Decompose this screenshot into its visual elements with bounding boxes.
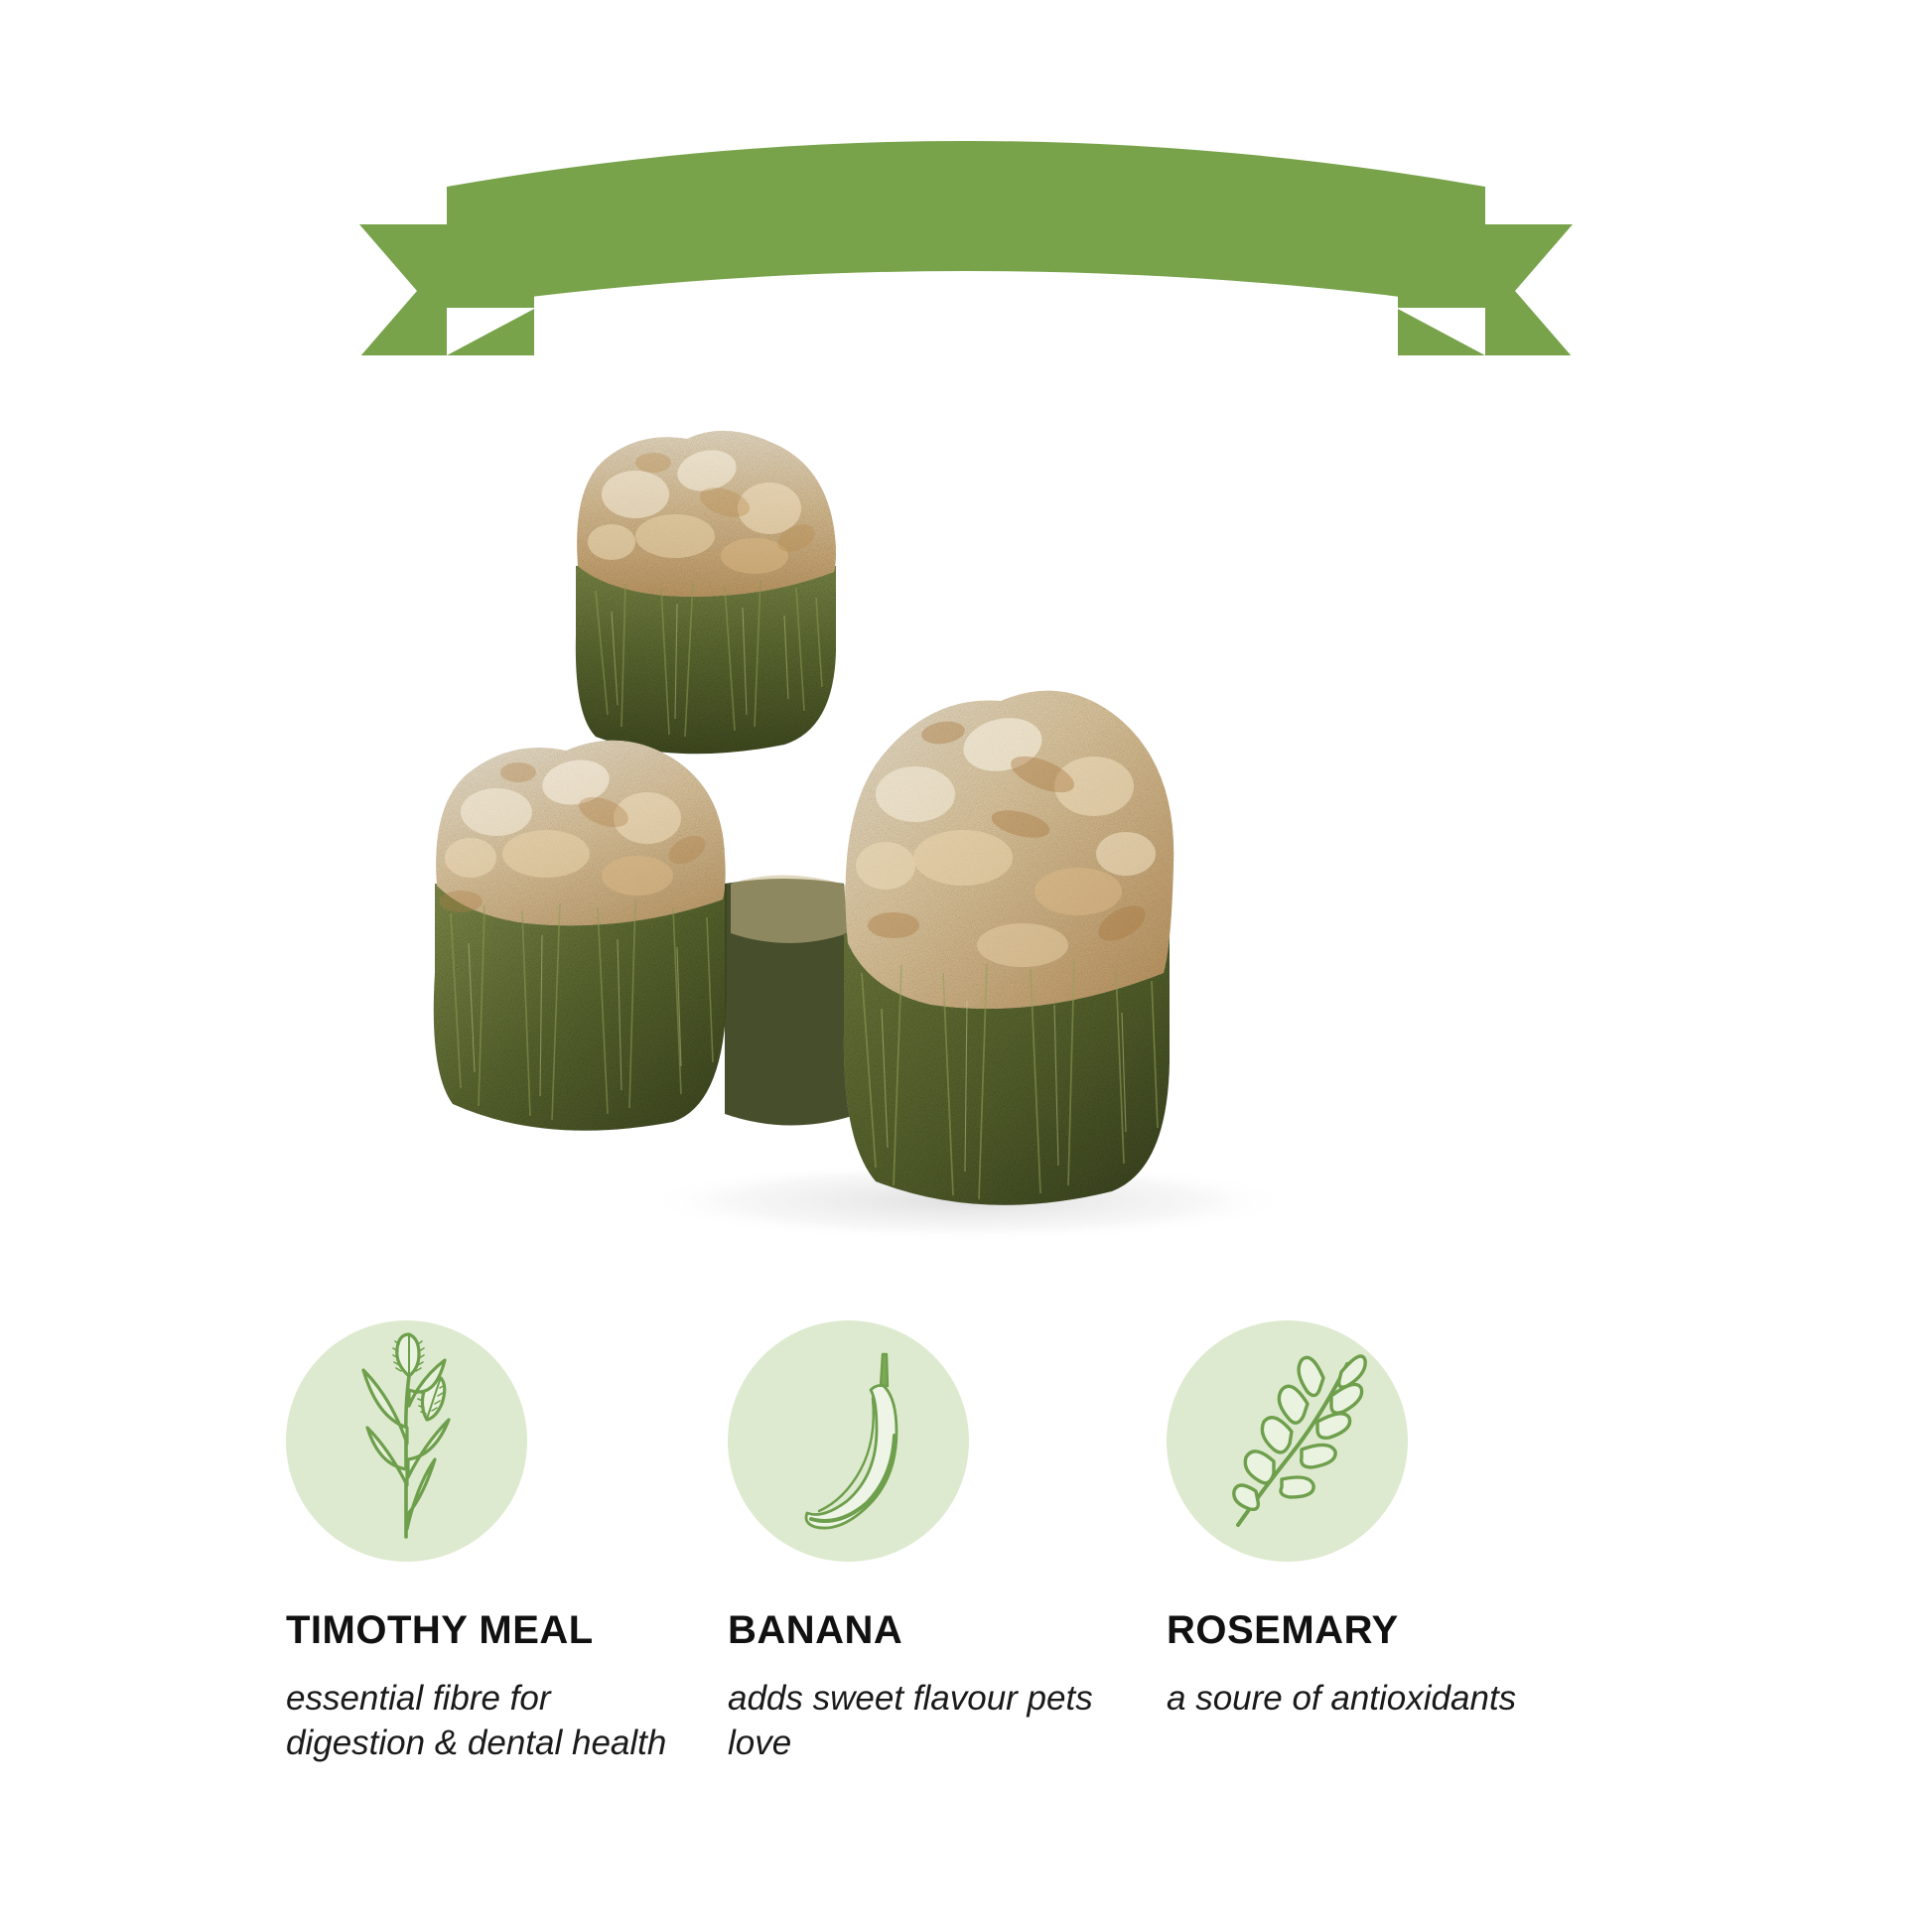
timothy-grass-icon-background: [286, 1320, 527, 1562]
treat-left: [434, 741, 727, 1131]
ingredient-banana: BANANA adds sweet flavour pets love: [728, 1320, 1224, 1766]
ingredient-title: TIMOTHY MEAL: [286, 1609, 782, 1651]
banana-icon: [728, 1320, 969, 1562]
infographic-canvas: HEALTHIER TREATS: [0, 0, 1932, 1932]
ingredient-description: a soure of antioxidants: [1167, 1677, 1593, 1722]
ingredient-rosemary: ROSEMARY a soure of antioxidants: [1167, 1320, 1663, 1722]
timothy-grass-icon: [286, 1320, 527, 1562]
banana-icon-background: [728, 1320, 969, 1562]
banner-body: [447, 141, 1485, 308]
ingredient-description: adds sweet flavour pets love: [728, 1677, 1125, 1766]
rosemary-sprig-icon: [1167, 1320, 1408, 1562]
treat-back: [725, 875, 864, 1125]
ingredient-title: BANANA: [728, 1609, 1224, 1651]
ingredient-title: ROSEMARY: [1167, 1609, 1663, 1651]
treat-right: [844, 691, 1173, 1205]
ingredient-description: essential fibre for digestion & dental h…: [286, 1677, 683, 1766]
healthier-treats-banner: HEALTHIER TREATS: [0, 127, 1932, 355]
ingredients-row: TIMOTHY MEAL essential fibre for digesti…: [0, 1320, 1932, 1837]
treat-top: [576, 431, 836, 754]
ingredient-timothy-meal: TIMOTHY MEAL essential fibre for digesti…: [286, 1320, 782, 1766]
product-photo: [427, 417, 1509, 1241]
rosemary-icon-background: [1167, 1320, 1408, 1562]
